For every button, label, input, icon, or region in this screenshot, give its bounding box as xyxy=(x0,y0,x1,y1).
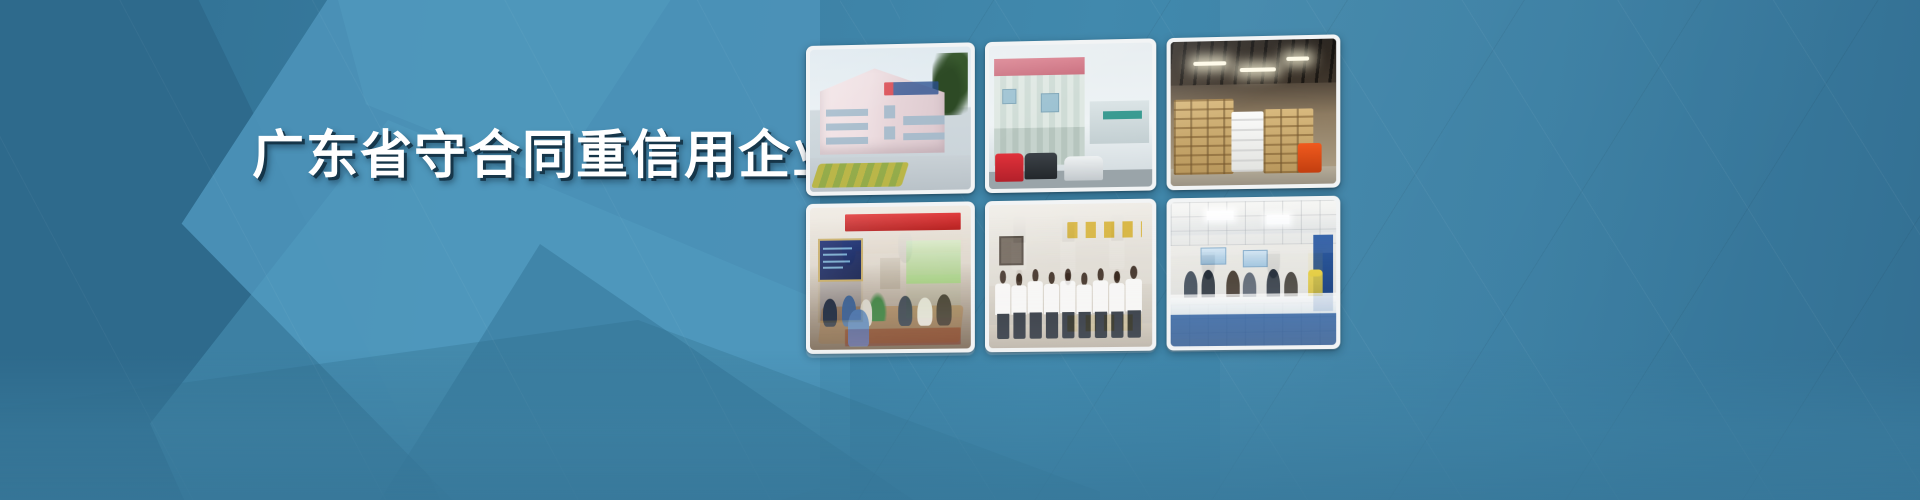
office-workstations-photo xyxy=(1167,196,1341,351)
bottom-fade-veil xyxy=(0,350,1920,500)
photo-image-office-floor xyxy=(1171,200,1337,347)
photo-image-staff-group xyxy=(989,203,1152,349)
warehouse-interior-stacked-sacks-photo xyxy=(1167,34,1341,190)
company-meeting-training-room-photo xyxy=(806,201,975,354)
photo-image-factory-front xyxy=(810,46,971,192)
photo-image-warehouse-exterior xyxy=(989,42,1152,189)
photo-image-meeting-room xyxy=(810,205,971,350)
factory-building-exterior-photo xyxy=(806,42,975,196)
company-photo-grid xyxy=(806,34,1340,354)
warehouse-building-with-cars-photo xyxy=(985,38,1156,193)
background-facet-mid-light xyxy=(60,0,820,500)
background-facet-left-dark xyxy=(0,0,460,500)
background-hairline-pattern-left xyxy=(0,0,900,500)
photo-image-warehouse-interior xyxy=(1171,38,1337,186)
staff-group-lobby-photo xyxy=(985,199,1156,353)
company-honor-banner: 广东省守合同重信用企业 xyxy=(0,0,1920,500)
